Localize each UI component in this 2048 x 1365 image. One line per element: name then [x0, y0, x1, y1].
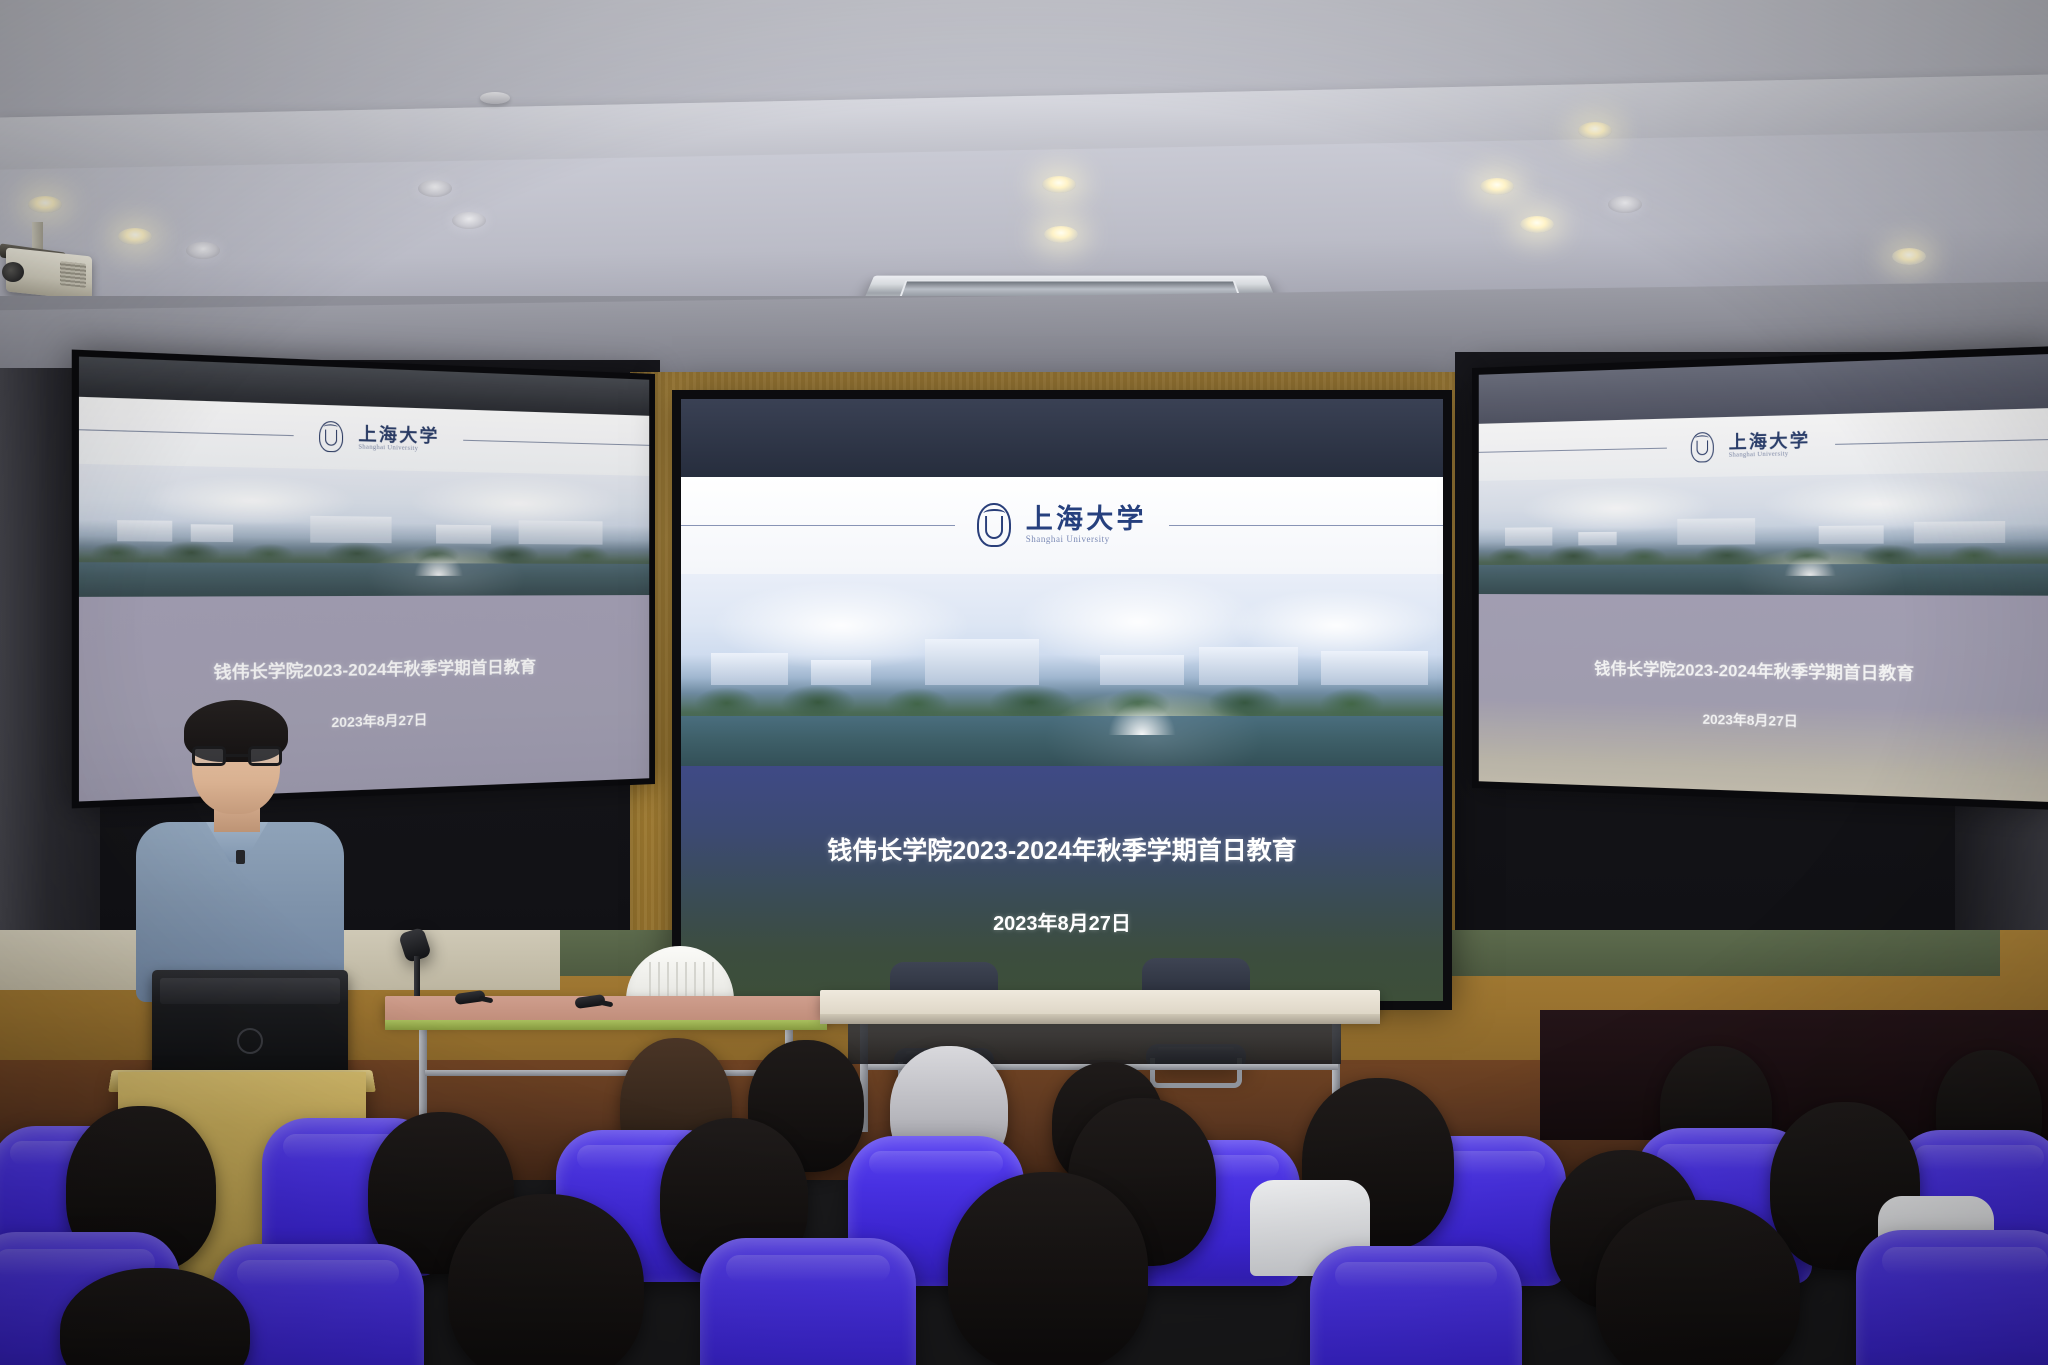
ceiling-downlight — [186, 242, 220, 259]
glasses-bridge — [226, 754, 248, 757]
header-rule-left — [1479, 447, 1667, 452]
slide-header: 上海大学 Shanghai University — [681, 477, 1443, 573]
microphone-stub — [479, 996, 494, 1004]
presenter-glasses-icon — [192, 746, 282, 766]
slide-right: 上海大学 Shanghai University 钱伟长学院202 — [1479, 354, 2048, 802]
ceiling-downlight — [1042, 176, 1076, 193]
shu-oval-emblem-icon — [1691, 432, 1714, 463]
slide-title-band: 钱伟长学院2023-2024年秋季学期首日教育 2023年8月27日 — [1479, 594, 2048, 802]
microphone-stub — [599, 1000, 614, 1008]
slide-title-band: 钱伟长学院2023-2024年秋季学期首日教育 2023年8月27日 — [681, 766, 1443, 1001]
logo-chinese-text: 上海大学 — [1026, 506, 1147, 533]
slide-center: 上海大学 Shanghai University — [681, 399, 1443, 1001]
slide-campus-photo — [1479, 471, 2048, 596]
attendee-head — [448, 1194, 644, 1365]
center-projection-screen[interactable]: 上海大学 Shanghai University — [672, 390, 1452, 1010]
slide-top-dark-bar — [681, 399, 1443, 477]
presenter-laptop[interactable] — [152, 970, 348, 1082]
smoke-detector — [480, 92, 510, 104]
logo-english-text: Shanghai University — [1026, 535, 1147, 544]
ceiling-downlight — [1608, 196, 1642, 213]
table-microphone — [455, 988, 493, 1006]
header-rule-left — [79, 429, 294, 436]
table-edge-band — [820, 1014, 1380, 1024]
slide-title: 钱伟长学院2023-2024年秋季学期首日教育 — [213, 653, 536, 684]
campus-fountain — [1108, 701, 1177, 736]
shu-logo: 上海大学 Shanghai University — [955, 503, 1169, 547]
ceiling-downlight — [1578, 122, 1612, 139]
logo-chinese-text: 上海大学 — [358, 425, 439, 445]
slide-campus-photo — [681, 574, 1443, 767]
audience-seat — [1856, 1230, 2048, 1365]
ceiling-downlight — [452, 212, 486, 229]
slide-title: 钱伟长学院2023-2024年秋季学期首日教育 — [1594, 655, 1914, 685]
lecture-hall-photo: 上海大学 Shanghai University 钱伟长学院202 — [0, 0, 2048, 1365]
projector-lens-icon — [2, 262, 24, 282]
attendee-head — [948, 1172, 1148, 1365]
header-rule-right — [1835, 439, 2048, 445]
header-rule-right — [1169, 525, 1443, 526]
shu-oval-emblem-icon — [977, 503, 1011, 547]
ceiling-downlight — [1480, 178, 1514, 195]
logo-chinese-text: 上海大学 — [1729, 432, 1811, 452]
campus-fountain — [414, 553, 464, 576]
shu-logo: 上海大学 Shanghai University — [1667, 429, 1834, 463]
campus-lake — [681, 716, 1443, 766]
header-rule-right — [463, 440, 649, 446]
campus-lake — [1479, 563, 2048, 596]
campus-fountain — [1784, 554, 1836, 576]
ceiling-downlight — [1044, 226, 1078, 243]
slide-date: 2023年8月27日 — [993, 907, 1131, 936]
header-rule-left — [681, 525, 955, 526]
slide-title: 钱伟长学院2023-2024年秋季学期首日教育 — [827, 831, 1297, 867]
shu-oval-emblem-icon — [319, 421, 343, 453]
logo-english-text: Shanghai University — [1729, 451, 1811, 459]
table-microphone — [575, 992, 613, 1010]
glasses-left-lens — [192, 746, 226, 766]
shu-logo: 上海大学 Shanghai University — [294, 420, 463, 455]
audience-seat — [1310, 1246, 1522, 1365]
ceiling-downlight — [118, 228, 152, 245]
laptop-logo-icon — [237, 1028, 263, 1054]
right-projection-screen[interactable]: 上海大学 Shanghai University 钱伟长学院202 — [1472, 346, 2048, 810]
slide-campus-photo — [79, 463, 649, 596]
ceiling-downlight — [28, 196, 62, 213]
ceiling-downlight — [418, 180, 452, 197]
lapel-microphone-icon — [236, 850, 245, 864]
audience-seat — [700, 1238, 916, 1365]
ceiling-downlight — [1892, 248, 1926, 265]
glasses-right-lens — [248, 746, 282, 766]
table-edge-band — [385, 1020, 827, 1030]
ceiling-mounted-projector — [0, 222, 96, 300]
slide-date: 2023年8月27日 — [1702, 708, 1797, 730]
table-top — [820, 990, 1380, 1016]
ceiling-downlight — [1520, 216, 1554, 233]
table-brace — [425, 1070, 785, 1076]
attendee-head — [1596, 1200, 1800, 1365]
campus-treeline — [681, 678, 1443, 720]
campus-lake — [79, 562, 649, 597]
